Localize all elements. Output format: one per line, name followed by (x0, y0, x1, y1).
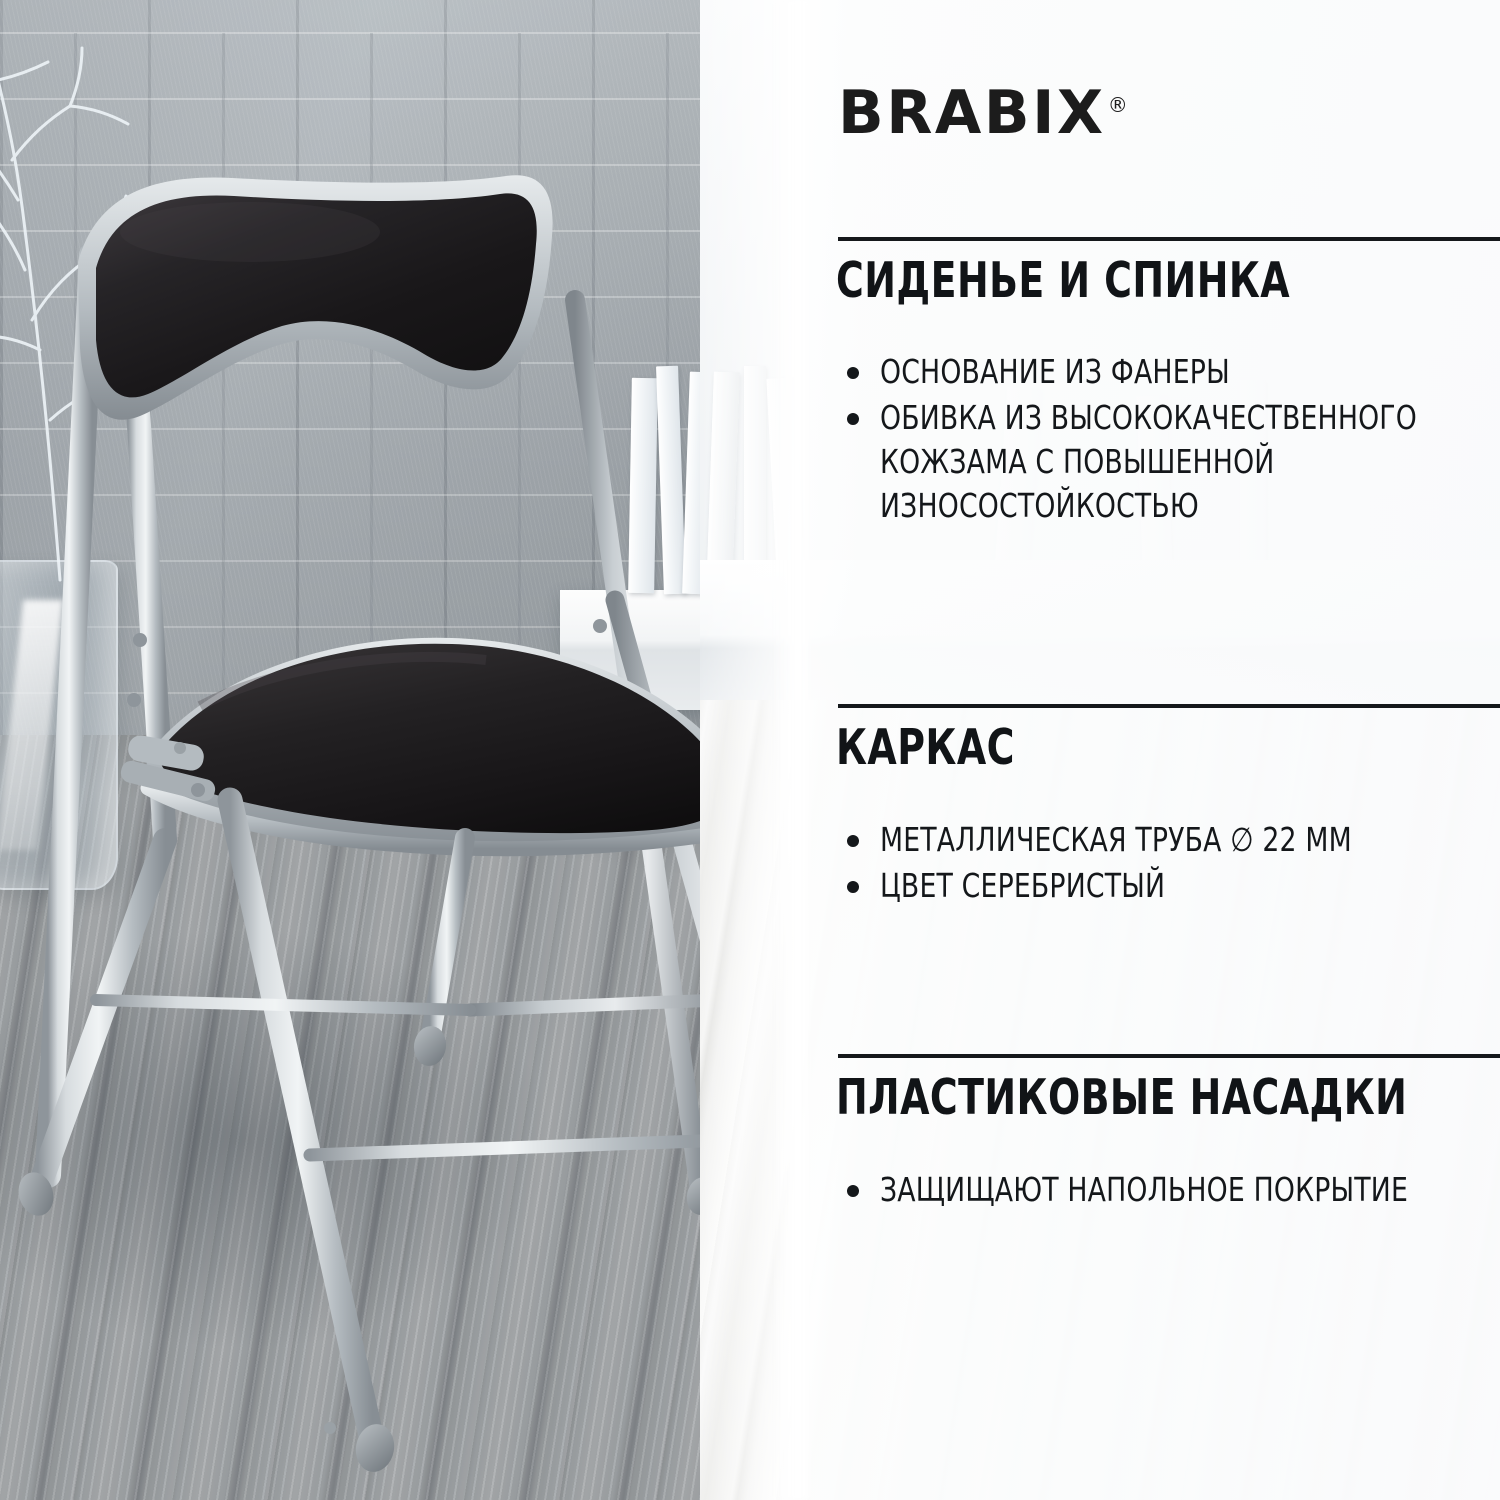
section-bullet-list: ОСНОВАНИЕ ИЗ ФАНЕРЫ ОБИВКА ИЗ ВЫСОКОКАЧЕ… (844, 350, 1500, 530)
section-divider (838, 1054, 1500, 1058)
bullet-text: МЕТАЛЛИЧЕСКАЯ ТРУБА ∅ 22 ММ (880, 818, 1352, 862)
section-title: ПЛАСТИКОВЫЕ НАСАДКИ (836, 1069, 1407, 1126)
section-divider (838, 237, 1500, 241)
spec-panel: BRABIX® СИДЕНЬЕ И СПИНКА ОСНОВАНИЕ ИЗ ФА… (800, 0, 1500, 1500)
list-item: ЗАЩИЩАЮТ НАПОЛЬНОЕ ПОКРЫТИЕ (844, 1168, 1500, 1212)
list-item: МЕТАЛЛИЧЕСКАЯ ТРУБА ∅ 22 ММ (844, 818, 1500, 862)
section-bullet-list: ЗАЩИЩАЮТ НАПОЛЬНОЕ ПОКРЫТИЕ (844, 1168, 1500, 1214)
folding-chair (0, 0, 800, 1500)
list-item: ОБИВКА ИЗ ВЫСОКОКАЧЕСТВЕННОГО КОЖЗАМА С … (844, 396, 1500, 528)
bullet-text: ОСНОВАНИЕ ИЗ ФАНЕРЫ (880, 350, 1230, 394)
brand-name: BRABIX (838, 78, 1106, 148)
section-title: СИДЕНЬЕ И СПИНКА (836, 252, 1290, 309)
product-photo (0, 0, 800, 1500)
brand-logo: BRABIX® (838, 78, 1128, 148)
product-infographic: BRABIX® СИДЕНЬЕ И СПИНКА ОСНОВАНИЕ ИЗ ФА… (0, 0, 1500, 1500)
bullet-text: ЦВЕТ СЕРЕБРИСТЫЙ (880, 864, 1165, 908)
bullet-text: ОБИВКА ИЗ ВЫСОКОКАЧЕСТВЕННОГО КОЖЗАМА С … (880, 396, 1442, 528)
section-title: КАРКАС (836, 719, 1015, 776)
section-divider (838, 704, 1500, 708)
list-item: ОСНОВАНИЕ ИЗ ФАНЕРЫ (844, 350, 1500, 394)
registered-trademark-icon: ® (1108, 93, 1128, 117)
section-bullet-list: МЕТАЛЛИЧЕСКАЯ ТРУБА ∅ 22 ММ ЦВЕТ СЕРЕБРИ… (844, 818, 1500, 910)
bullet-text: ЗАЩИЩАЮТ НАПОЛЬНОЕ ПОКРЫТИЕ (880, 1168, 1408, 1212)
list-item: ЦВЕТ СЕРЕБРИСТЫЙ (844, 864, 1500, 908)
